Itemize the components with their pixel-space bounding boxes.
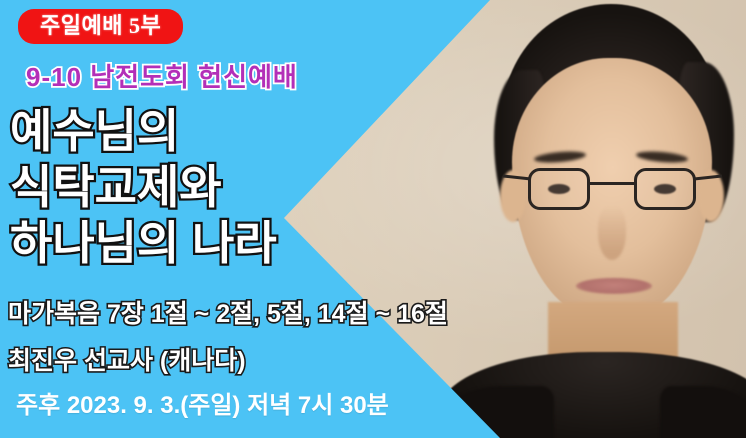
speaker-name: 최진우 선교사 (캐나다): [8, 349, 246, 374]
worship-service-banner: 주일예배 5부 9-10 남전도회 헌신예배 예수님의 식탁교제와 하나님의 나…: [0, 0, 746, 438]
scripture-reference: 마가복음 7장 1절 ~ 2절, 5절, 14절 ~ 16절: [8, 302, 448, 327]
sermon-title-line-1: 예수님의: [10, 103, 277, 159]
service-badge: 주일예배 5부: [18, 9, 183, 44]
sermon-title: 예수님의 식탁교제와 하나님의 나라: [10, 103, 277, 271]
sermon-title-line-2: 식탁교제와: [10, 159, 277, 215]
banner-content: 주일예배 5부 9-10 남전도회 헌신예배 예수님의 식탁교제와 하나님의 나…: [0, 0, 746, 438]
sermon-title-line-3: 하나님의 나라: [10, 215, 277, 271]
service-datetime: 주후 2023. 9. 3.(주일) 저녁 7시 30분: [16, 394, 389, 418]
event-subtitle: 9-10 남전도회 헌신예배: [26, 62, 298, 93]
